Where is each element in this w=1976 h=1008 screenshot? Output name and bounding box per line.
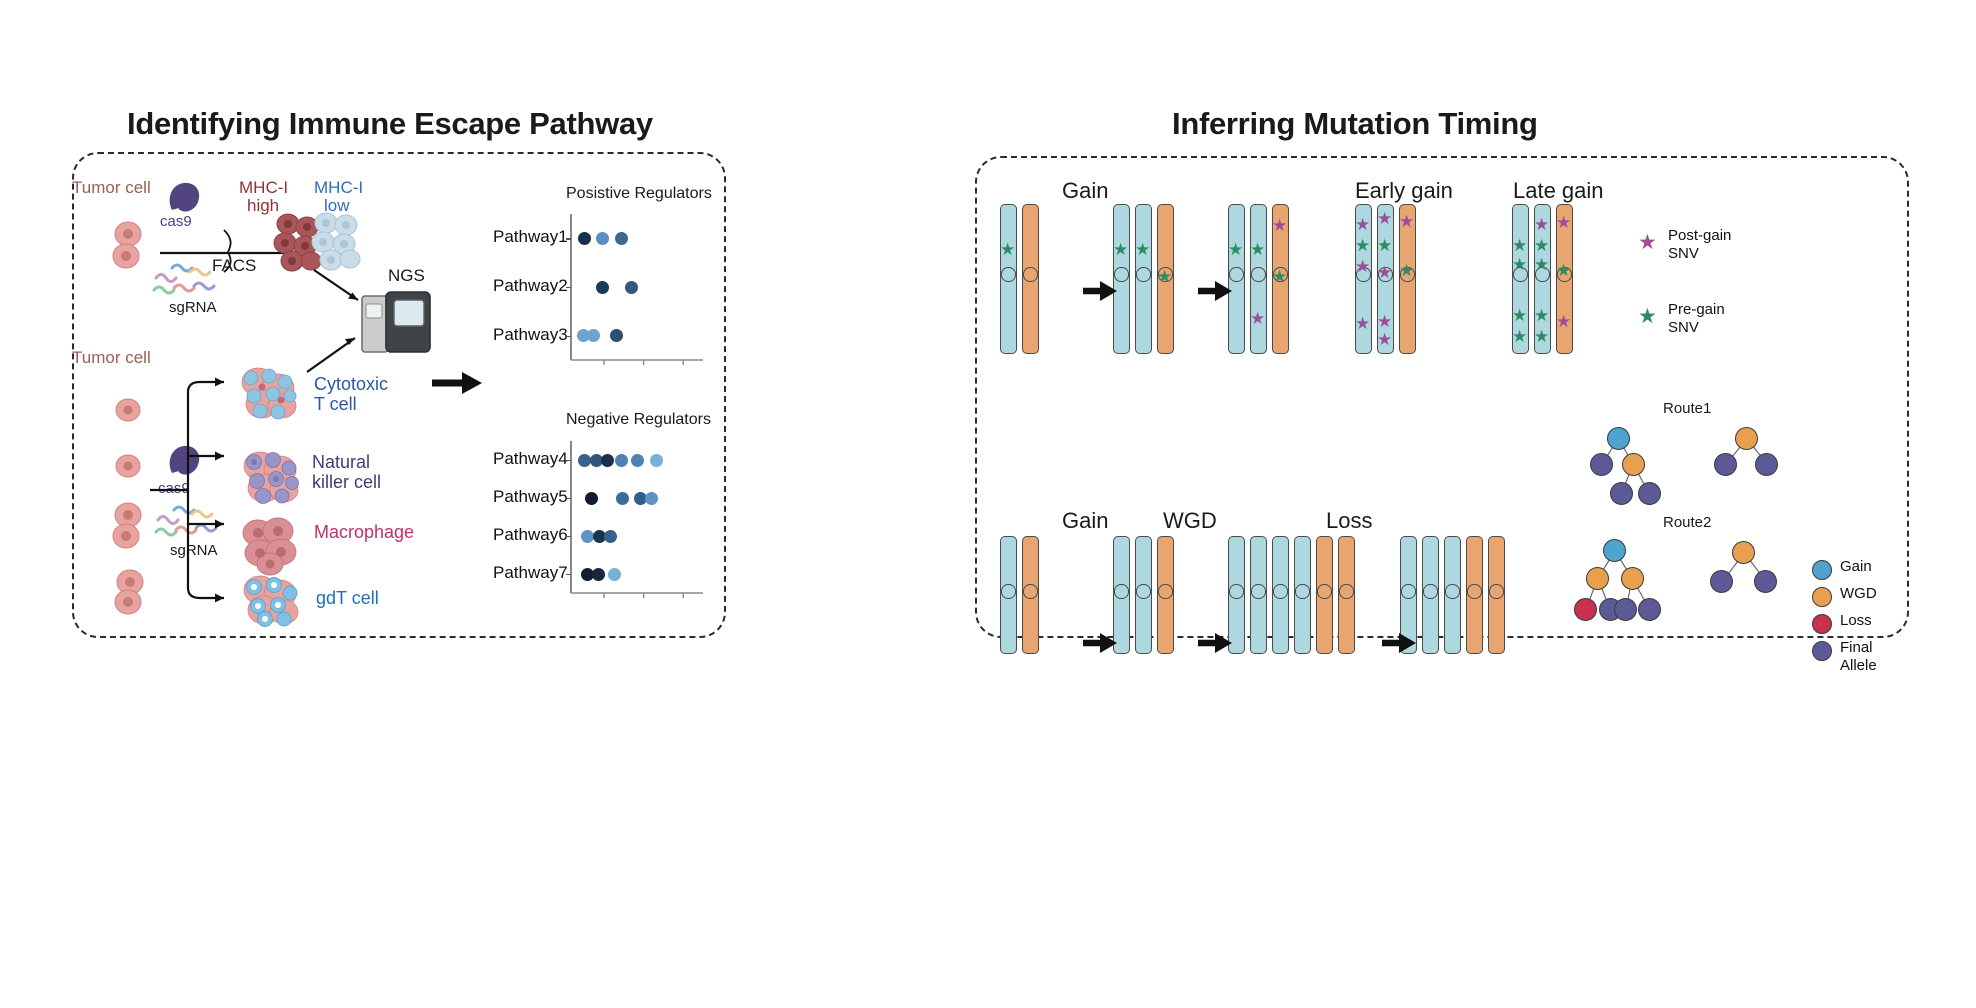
positive-regulators-dotplot: Pathway1Pathway2Pathway3 (493, 210, 703, 382)
tree-node-wgd[interactable] (1735, 427, 1758, 450)
legend-loss-swatch[interactable] (1812, 614, 1832, 634)
tumor-cell-label-bottom: Tumor cell (72, 348, 151, 368)
axis-tick (566, 536, 571, 537)
legend-gain-label: Gain (1840, 559, 1872, 576)
route1-label: Route1 (1663, 400, 1711, 417)
sgrna-label-top: sgRNA (169, 299, 217, 316)
cytotoxic-t-cell-icon (238, 366, 300, 422)
post-gain-snv-icon: ★ (1272, 217, 1287, 234)
legend-final-label: Final (1840, 640, 1873, 657)
centromere-icon (1158, 584, 1172, 598)
post-gain-snv-label-line1: Post-gain (1668, 228, 1731, 245)
centromere-icon (1136, 267, 1150, 281)
positive-regulators-title: Posistive Regulators (566, 185, 712, 203)
stage-label-late-gain: Late gain (1513, 178, 1604, 204)
route1-trees (1580, 418, 1795, 528)
tumor-cell-icon-top (106, 218, 154, 274)
post-gain-snv-icon: ★ (1250, 310, 1265, 327)
macrophage-label: Macrophage (314, 522, 414, 543)
axis-label-pathway7: Pathway7 (493, 563, 562, 583)
centromere-icon (1401, 584, 1415, 598)
centromere-icon (1489, 584, 1503, 598)
pre-gain-snv-icon: ★ (1512, 237, 1527, 254)
mutation-timing-legend: GainWGDLossFinalAllele (1812, 560, 1922, 690)
dot-pathway5[interactable] (645, 492, 658, 505)
pre-gain-snv-icon: ★ (1556, 262, 1571, 279)
legend-wgd-label: WGD (1840, 586, 1877, 603)
left-panel-title: Identifying Immune Escape Pathway (127, 106, 653, 142)
post-gain-snv-icon: ★ (1399, 213, 1414, 230)
axis-label-pathway5: Pathway5 (493, 487, 562, 507)
legend-loss-label: Loss (1840, 613, 1872, 630)
arrow-wgd-3 (1382, 630, 1422, 656)
dot-pathway1[interactable] (615, 232, 628, 245)
chromosome-orange[interactable] (1022, 536, 1039, 654)
stage-label-wgd: WGD (1163, 508, 1217, 534)
post-gain-snv-icon: ★ (1556, 313, 1571, 330)
chromosome-blue[interactable] (1422, 536, 1439, 654)
chromosome-blue[interactable]: ★★★★★ (1534, 204, 1551, 354)
mhc-low-cells-icon (312, 212, 364, 270)
route2-trees (1570, 532, 1795, 642)
tree-node-wgd[interactable] (1586, 567, 1609, 590)
chromosome-orange[interactable] (1316, 536, 1333, 654)
axis-tick (566, 574, 571, 575)
centromere-icon (1273, 584, 1287, 598)
macrophage-icon (240, 518, 302, 572)
cytotoxic-t-cell-label-line1: Cytotoxic (314, 374, 388, 395)
legend-wgd-swatch[interactable] (1812, 587, 1832, 607)
gdt-cell-icon (240, 574, 302, 628)
legend-final-label-line2: Allele (1840, 658, 1877, 675)
chromosome-blue[interactable]: ★★ (1250, 204, 1267, 354)
dot-pathway5[interactable] (585, 492, 598, 505)
snv-legend: ★Post-gainSNV★Pre-gainSNV (1638, 228, 1798, 378)
centromere-icon (1136, 584, 1150, 598)
pre-gain-snv-icon: ★ (1135, 241, 1150, 258)
axis-tick (566, 336, 571, 337)
stage-label-gain-row2: Gain (1062, 508, 1108, 534)
chromosome-orange[interactable] (1157, 536, 1174, 654)
post-gain-snv-icon: ★ (1556, 214, 1571, 231)
arrow-to-plots (430, 368, 490, 398)
arrow-gain-1 (1083, 278, 1123, 304)
stage-label-early-gain: Early gain (1355, 178, 1453, 204)
arrow-to-ngs-top (312, 266, 372, 308)
dot-pathway4[interactable] (615, 454, 628, 467)
axis-label-pathway3: Pathway3 (493, 325, 562, 345)
gdt-cell-label: gdT cell (316, 588, 379, 609)
dot-pathway7[interactable] (608, 568, 621, 581)
axis-label-pathway1: Pathway1 (493, 227, 562, 247)
legend-final-swatch[interactable] (1812, 641, 1832, 661)
post-gain-snv-icon: ★ (1355, 258, 1370, 275)
dot-pathway2[interactable] (596, 281, 609, 294)
chromosome-blue[interactable] (1444, 536, 1461, 654)
post-gain-snv-icon: ★ (1377, 313, 1392, 330)
stage-label-gain-row1: Gain (1062, 178, 1108, 204)
chromosome-blue[interactable] (1135, 536, 1152, 654)
dot-pathway1[interactable] (578, 232, 591, 245)
pre-gain-snv-icon: ★ (1272, 268, 1287, 285)
pre-gain-snv-icon: ★ (1534, 307, 1549, 324)
tree-node-final[interactable] (1638, 598, 1661, 621)
tree-node-final[interactable] (1714, 453, 1737, 476)
chromosome-orange[interactable]: ★★★ (1556, 204, 1573, 354)
tree-node-wgd[interactable] (1622, 453, 1645, 476)
pre-gain-snv-icon: ★ (1534, 256, 1549, 273)
centromere-icon (1445, 584, 1459, 598)
pre-gain-snv-icon: ★ (1534, 237, 1549, 254)
centromere-icon (1229, 584, 1243, 598)
tree-node-wgd[interactable] (1621, 567, 1644, 590)
natural-killer-cell-label-line1: Natural (312, 452, 370, 473)
pre-gain-snv-icon: ★ (1228, 241, 1243, 258)
pre-gain-snv-icon: ★ (1250, 241, 1265, 258)
pre-gain-snv-label-line2: SNV (1668, 320, 1699, 337)
centromere-icon (1251, 584, 1265, 598)
axis-tick (566, 238, 571, 239)
ngs-label: NGS (388, 266, 425, 286)
dot-pathway6[interactable] (604, 530, 617, 543)
post-gain-snv-icon: ★ (1638, 232, 1657, 253)
chromosome-blue[interactable]: ★ (1000, 204, 1017, 354)
arrow-wgd-2 (1198, 630, 1238, 656)
dot-pathway5[interactable] (616, 492, 629, 505)
pre-gain-snv-icon: ★ (1000, 241, 1015, 258)
chromosome-blue[interactable] (1250, 536, 1267, 654)
chromosome-blue[interactable]: ★★★★★ (1377, 204, 1394, 354)
right-panel-title: Inferring Mutation Timing (1172, 106, 1538, 142)
pre-gain-snv-icon: ★ (1377, 237, 1392, 254)
pre-gain-snv-icon: ★ (1512, 256, 1527, 273)
centromere-icon (1251, 267, 1265, 281)
dot-pathway4[interactable] (631, 454, 644, 467)
centromere-icon (1001, 267, 1015, 281)
chromosome-blue[interactable] (1272, 536, 1289, 654)
chromosome-orange[interactable]: ★ (1157, 204, 1174, 354)
post-gain-snv-label-line2: SNV (1668, 246, 1699, 263)
chromosome-orange[interactable] (1022, 204, 1039, 354)
centromere-icon (1023, 584, 1037, 598)
axis-label-pathway2: Pathway2 (493, 276, 562, 296)
chromosome-orange[interactable]: ★★ (1399, 204, 1416, 354)
axis-tick (566, 287, 571, 288)
centromere-icon (1001, 584, 1015, 598)
pre-gain-snv-icon: ★ (1534, 328, 1549, 345)
post-gain-snv-icon: ★ (1377, 264, 1392, 281)
tree-node-final[interactable] (1610, 482, 1633, 505)
pre-gain-snv-icon: ★ (1399, 262, 1414, 279)
tree-node-final[interactable] (1638, 482, 1661, 505)
centromere-icon (1295, 584, 1309, 598)
centromere-icon (1423, 584, 1437, 598)
tumor-cell-icon-b2 (108, 452, 152, 506)
chromosome-orange[interactable] (1466, 536, 1483, 654)
post-gain-snv-icon: ★ (1377, 210, 1392, 227)
arrow-to-ngs-bottom (305, 330, 367, 376)
pre-gain-snv-label-line1: Pre-gain (1668, 302, 1725, 319)
chromosome-orange[interactable] (1338, 536, 1355, 654)
tree-node-final[interactable] (1590, 453, 1613, 476)
chromosome-blue[interactable] (1294, 536, 1311, 654)
sgrna-icon-top (148, 258, 220, 302)
tumor-cell-icon-b1 (110, 392, 150, 430)
dot-pathway4[interactable] (601, 454, 614, 467)
centromere-icon (1467, 584, 1481, 598)
centromere-icon (1339, 584, 1353, 598)
negative-regulators-dotplot: Pathway4Pathway5Pathway6Pathway7 (493, 437, 703, 615)
arrow-gain-2 (1198, 278, 1238, 304)
pre-gain-snv-icon: ★ (1113, 241, 1128, 258)
mhc-high-label-line1: MHC-I (239, 178, 288, 198)
chromosome-blue[interactable] (1000, 536, 1017, 654)
chromosome-blue[interactable]: ★★★★ (1512, 204, 1529, 354)
natural-killer-cell-icon (240, 450, 302, 506)
pre-gain-snv-icon: ★ (1355, 237, 1370, 254)
dot-pathway4[interactable] (578, 454, 591, 467)
tumor-cell-icon-b3 (106, 500, 152, 556)
centromere-icon (1317, 584, 1331, 598)
cytotoxic-t-cell-label-line2: T cell (314, 394, 357, 415)
dot-pathway4[interactable] (650, 454, 663, 467)
axis-label-pathway6: Pathway6 (493, 525, 562, 545)
negative-regulators-title: Negative Regulators (566, 411, 711, 429)
pre-gain-snv-icon: ★ (1512, 307, 1527, 324)
post-gain-snv-icon: ★ (1377, 331, 1392, 348)
axis-tick (566, 498, 571, 499)
axis-tick (566, 460, 571, 461)
chromosome-blue[interactable]: ★ (1135, 204, 1152, 354)
chromosome-orange[interactable]: ★★ (1272, 204, 1289, 354)
post-gain-snv-icon: ★ (1534, 216, 1549, 233)
arrow-wgd-1 (1083, 630, 1123, 656)
post-gain-snv-icon: ★ (1355, 315, 1370, 332)
legend-gain-swatch[interactable] (1812, 560, 1832, 580)
dot-pathway2[interactable] (625, 281, 638, 294)
centromere-icon (1023, 267, 1037, 281)
natural-killer-cell-label-line2: killer cell (312, 472, 381, 493)
stage-label-loss: Loss (1326, 508, 1372, 534)
dot-pathway7[interactable] (592, 568, 605, 581)
centromere-icon (1114, 584, 1128, 598)
chromosome-blue[interactable]: ★★★★ (1355, 204, 1372, 354)
mhc-low-label-line1: MHC-I (314, 178, 363, 198)
tree-node-gain[interactable] (1607, 427, 1630, 450)
post-gain-snv-icon: ★ (1355, 216, 1370, 233)
dot-pathway1[interactable] (596, 232, 609, 245)
chromosome-orange[interactable] (1488, 536, 1505, 654)
axis-label-pathway4: Pathway4 (493, 449, 562, 469)
tumor-cell-label-top: Tumor cell (72, 178, 151, 198)
pre-gain-snv-icon: ★ (1157, 268, 1172, 285)
pre-gain-snv-icon: ★ (1638, 306, 1657, 327)
pre-gain-snv-icon: ★ (1512, 328, 1527, 345)
route2-label: Route2 (1663, 514, 1711, 531)
